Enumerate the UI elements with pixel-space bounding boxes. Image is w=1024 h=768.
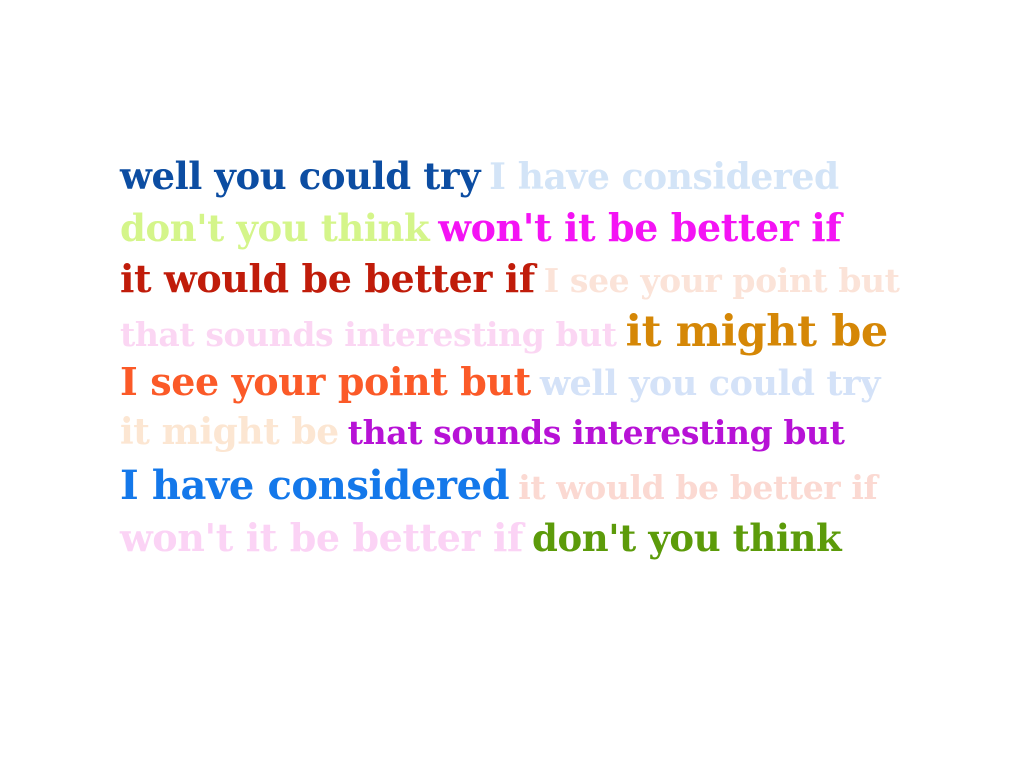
- cloud-phrase[interactable]: that sounds interesting but: [120, 318, 617, 351]
- cloud-phrase[interactable]: don't you think: [120, 210, 429, 247]
- word-cloud-canvas: well you could tryI have considereddon't…: [0, 0, 1024, 768]
- cloud-phrase[interactable]: well you could try: [120, 158, 480, 195]
- cloud-row: don't you thinkwon't it be better if: [120, 209, 841, 247]
- cloud-phrase[interactable]: won't it be better if: [120, 519, 523, 557]
- cloud-phrase[interactable]: it would be better if: [518, 471, 877, 504]
- cloud-phrase[interactable]: I have considered: [120, 466, 509, 506]
- cloud-row: that sounds interesting butit might be: [120, 311, 888, 354]
- cloud-phrase[interactable]: it might be: [626, 311, 888, 354]
- cloud-row: it might bethat sounds interesting but: [120, 414, 844, 450]
- cloud-phrase[interactable]: I see your point but: [120, 363, 531, 401]
- cloud-row: it would be better ifI see your point bu…: [120, 260, 899, 298]
- cloud-phrase[interactable]: it might be: [120, 414, 339, 450]
- cloud-phrase[interactable]: that sounds interesting but: [348, 416, 845, 449]
- cloud-phrase[interactable]: don't you think: [532, 520, 841, 557]
- cloud-phrase[interactable]: well you could try: [540, 366, 880, 401]
- cloud-phrase[interactable]: it would be better if: [120, 260, 535, 298]
- cloud-row: I have consideredit would be better if: [120, 466, 877, 506]
- cloud-row: I see your point butwell you could try: [120, 363, 880, 401]
- cloud-phrase[interactable]: I have considered: [489, 159, 839, 195]
- cloud-row: won't it be better ifdon't you think: [120, 519, 841, 557]
- cloud-row: well you could tryI have considered: [120, 158, 839, 195]
- cloud-phrase[interactable]: won't it be better if: [438, 209, 841, 247]
- cloud-phrase[interactable]: I see your point but: [544, 264, 900, 297]
